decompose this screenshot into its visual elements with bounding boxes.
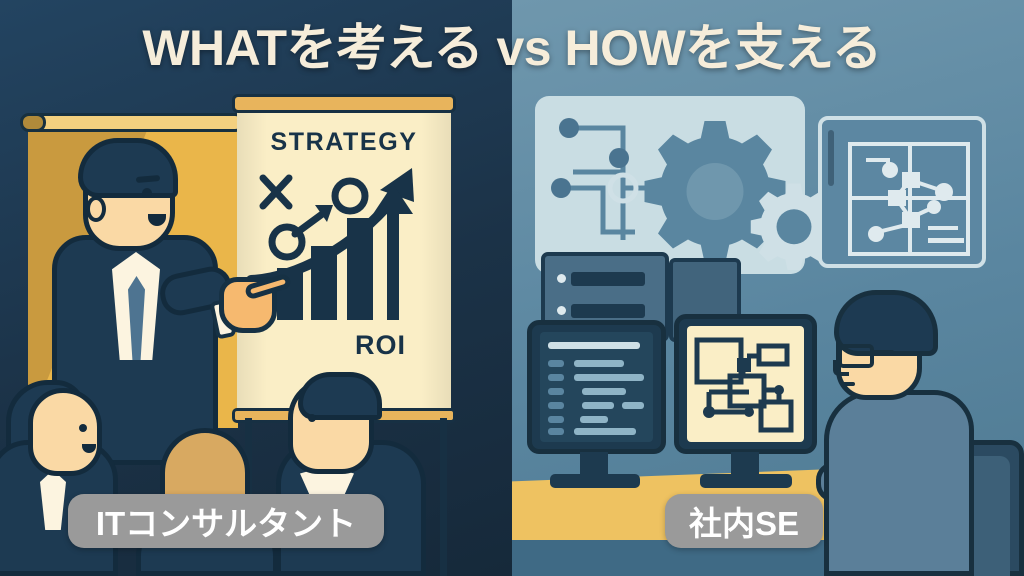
presenter-ear	[86, 196, 106, 222]
code-line-2	[574, 360, 624, 367]
audience-woman-eye	[79, 424, 87, 432]
se-nose	[833, 360, 849, 376]
presenter-eye	[142, 188, 152, 198]
monitor-code-screen	[540, 332, 653, 442]
flipchart-leg-right	[440, 418, 447, 576]
network-panel-bar	[828, 130, 834, 186]
code-line-7	[580, 416, 608, 423]
glasses-temple	[872, 350, 894, 354]
badge-it-consultant-label: ITコンサルタント	[96, 497, 356, 545]
code-line-6	[622, 402, 644, 409]
code-line-1	[548, 342, 640, 349]
strategy-diagram	[237, 150, 451, 380]
window-blind	[22, 113, 244, 132]
window-blind-knob	[20, 113, 46, 132]
audience-woman-head	[28, 388, 102, 476]
monitor-diagram-screen	[687, 326, 804, 442]
bar-2	[311, 246, 337, 320]
left-panel-consultant: STRATEGY	[0, 0, 512, 576]
code-line-3	[574, 374, 644, 381]
code-gutter-6	[548, 428, 564, 435]
se-body	[824, 390, 974, 576]
audience-man-eye	[308, 414, 316, 422]
monitor-code-base	[550, 474, 640, 488]
code-line-5	[582, 402, 614, 409]
infographic-canvas: STRATEGY	[0, 0, 1024, 576]
bar-growth-arrow	[373, 184, 413, 320]
code-gutter-2	[548, 374, 564, 381]
server-led-1	[557, 274, 566, 283]
code-gutter-3	[548, 388, 564, 395]
network-topology-icon	[848, 142, 974, 258]
se-mouth	[842, 382, 855, 386]
server-bay-1	[571, 272, 645, 286]
presenter-hair	[78, 138, 178, 198]
server-led-2	[557, 306, 566, 315]
flipchart-roi-label: ROI	[355, 330, 406, 361]
audience-man-hair	[298, 372, 382, 420]
o-mark-upper	[335, 181, 365, 211]
code-gutter-5	[548, 416, 564, 423]
badge-internal-se: 社内SE	[665, 494, 823, 548]
monitor-diagram-base	[700, 474, 792, 488]
code-line-8	[574, 428, 636, 435]
system-flow-diagram	[687, 326, 804, 442]
tactical-arrow	[295, 205, 333, 234]
badge-internal-se-label: 社内SE	[689, 497, 799, 545]
badge-it-consultant: ITコンサルタント	[68, 494, 384, 548]
code-gutter-4	[548, 402, 564, 409]
bar-3	[347, 218, 373, 320]
code-line-4	[582, 388, 626, 395]
x-mark	[263, 178, 289, 206]
server-bay-2	[571, 304, 645, 318]
code-gutter-1	[548, 360, 564, 367]
flipchart-top-bar	[232, 94, 456, 113]
